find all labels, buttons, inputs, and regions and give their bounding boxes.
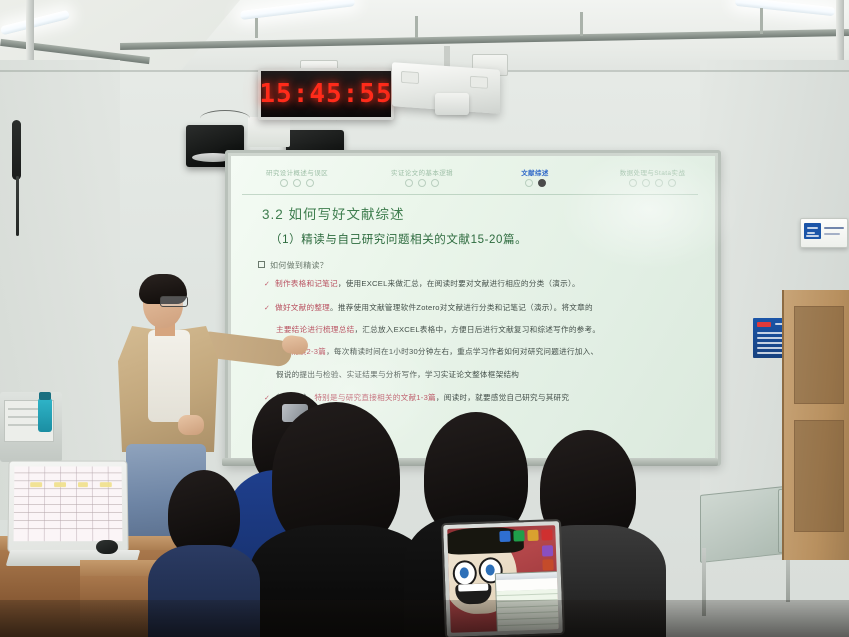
check-icon: ✓ [264, 305, 270, 312]
digital-wall-clock: 15:45:55 [258, 68, 394, 120]
check-icon: ✓ [264, 281, 270, 288]
slide-bullet-5-head: 特别是与研究直接相关的文献1-3篇 [314, 393, 436, 402]
cartoon-hair [447, 526, 524, 555]
slide-nav-dots-0 [242, 179, 352, 187]
classroom-photo: 15:45:55 研究设计概述与误区 [0, 0, 849, 637]
slide-bullet-2-head: 主要结论进行梳理总结 [276, 325, 354, 334]
slide-subtitle: （1）精读与自己研究问题相关的文献15-20篇。 [270, 231, 527, 247]
computer-mouse[interactable] [96, 540, 118, 554]
slide-nav-label-3: 数据处理与Stata实战 [590, 167, 708, 177]
square-bullet-icon [258, 261, 265, 268]
nav-dot [280, 179, 288, 187]
lecturer-glasses [160, 296, 188, 307]
nav-dot [418, 179, 426, 187]
desktop-icon-5[interactable] [542, 545, 553, 556]
slide-bullet-1: ✓做好文献的整理。推荐使用文献管理软件Zotero对文献进行分类和记笔记（演示）… [264, 303, 593, 313]
slide-nav-item-3[interactable]: 数据处理与Stata实战 [590, 167, 708, 187]
clock-time: 15:45:55 [259, 79, 392, 109]
duct-hanger-3 [580, 12, 583, 36]
floor-shadow [0, 600, 849, 637]
nav-dot [655, 179, 663, 187]
slide-nav-label-2: 文献综述 [492, 167, 578, 177]
desktop-icon-6[interactable] [542, 559, 553, 570]
lecturer-laptop-screen [14, 466, 123, 541]
desktop-icon-4[interactable] [541, 529, 552, 540]
slide-bullet-0: ✓制作表格和记笔记，使用EXCEL来做汇总，在阅读时要对文献进行相应的分类（演示… [264, 279, 580, 289]
slide-bullet-1-body: 。推荐使用文献管理软件Zotero对文献进行分类和记笔记（演示）。将文章的 [330, 303, 593, 312]
slide-bullet-2-body: ，汇总放入EXCEL表格中，方便日后进行文献复习和综述写作的参考。 [354, 325, 600, 334]
slide-bullet-0-body: ，使用EXCEL来做汇总，在阅读时要对文献进行相应的分类（演示）。 [338, 279, 580, 288]
nav-dot [306, 179, 314, 187]
water-bottle [38, 398, 52, 432]
slide-bullet-3: ✓每周精读2-3篇，每次精读时间在1小时30分钟左右，重点学习作者如何对研究问题… [264, 347, 598, 357]
duct-hanger-4 [760, 8, 763, 34]
slide-nav-dots-3 [590, 179, 708, 187]
projector-vent-right [470, 76, 488, 89]
cartoon-pupil-left [460, 567, 469, 578]
lecturer-shirt [148, 330, 190, 422]
mic-cable [16, 176, 19, 236]
lecturer-laptop-lid [7, 461, 128, 553]
desktop-icon-2[interactable] [513, 530, 524, 541]
slide-bullet-5-body: ，阅读时，就要感觉自己研究与其研究 [436, 393, 569, 402]
desktop-icon-3[interactable] [527, 530, 538, 541]
lecturer-laptop[interactable] [8, 460, 128, 552]
slide-nav-label-0: 研究设计概述与误区 [242, 167, 352, 177]
door-panel-lower [794, 420, 844, 532]
speaker-wire-left [200, 110, 250, 127]
nav-dot [293, 179, 301, 187]
slide-divider [242, 194, 698, 195]
nav-dot [642, 179, 650, 187]
video-sign-text-1 [824, 227, 844, 229]
door-panel-upper [794, 306, 844, 404]
video-surveillance-sign [800, 218, 848, 248]
wall-microphone [12, 120, 21, 180]
slide-nav-item-1[interactable]: 实证论文的基本逻辑 [362, 167, 482, 187]
projector-vent-left [401, 71, 419, 84]
classroom-door[interactable] [782, 290, 849, 560]
nav-dot [405, 179, 413, 187]
slide-question-text: 如何做到精读？ [270, 261, 328, 270]
slide-nav-dots-2 [492, 179, 578, 187]
nav-dot [431, 179, 439, 187]
slide-nav-item-2[interactable]: 文献综述 [492, 167, 578, 187]
duct-hanger-2 [415, 16, 418, 38]
slide-question: 如何做到精读？ [258, 260, 328, 271]
slide-bullet-2: 主要结论进行梳理总结，汇总放入EXCEL表格中，方便日后进行文献复习和综述写作的… [276, 325, 600, 334]
duct-hanger-1 [255, 18, 258, 38]
nav-dot [525, 179, 533, 187]
projector-lens [435, 93, 469, 115]
slide-nav-dots-1 [362, 179, 482, 187]
slide-nav-item-0[interactable]: 研究设计概述与误区 [242, 167, 352, 187]
slide-bullet-3-body: ，每次精读时间在1小时30分钟左右，重点学习作者如何对研究问题进行加入、 [326, 347, 598, 356]
cartoon-pupil-right [485, 564, 494, 575]
slide-bullet-1-head: 做好文献的整理 [275, 303, 330, 312]
nav-dot-active [538, 179, 546, 187]
video-sign-text-2 [824, 233, 840, 235]
slide-nav-label-1: 实证论文的基本逻辑 [362, 167, 482, 177]
camera-icon [804, 223, 821, 239]
speaker-junction-box [248, 117, 290, 147]
desktop-icon-1[interactable] [499, 531, 510, 542]
slide-bullet-4: 假说的提出与检验、实证结果与分析写作，学习实证论文整体框架结构 [276, 369, 519, 380]
nav-dot [629, 179, 637, 187]
lecturer-other-hand [178, 415, 204, 435]
slide-title: 3.2 如何写好文献综述 [262, 203, 405, 223]
slide-bullet-0-head: 制作表格和记笔记 [275, 279, 338, 288]
nav-dot [668, 179, 676, 187]
slide-nav: 研究设计概述与误区 实证论文的基本逻辑 文献综述 [242, 167, 698, 193]
water-bottle-cap [39, 392, 51, 400]
